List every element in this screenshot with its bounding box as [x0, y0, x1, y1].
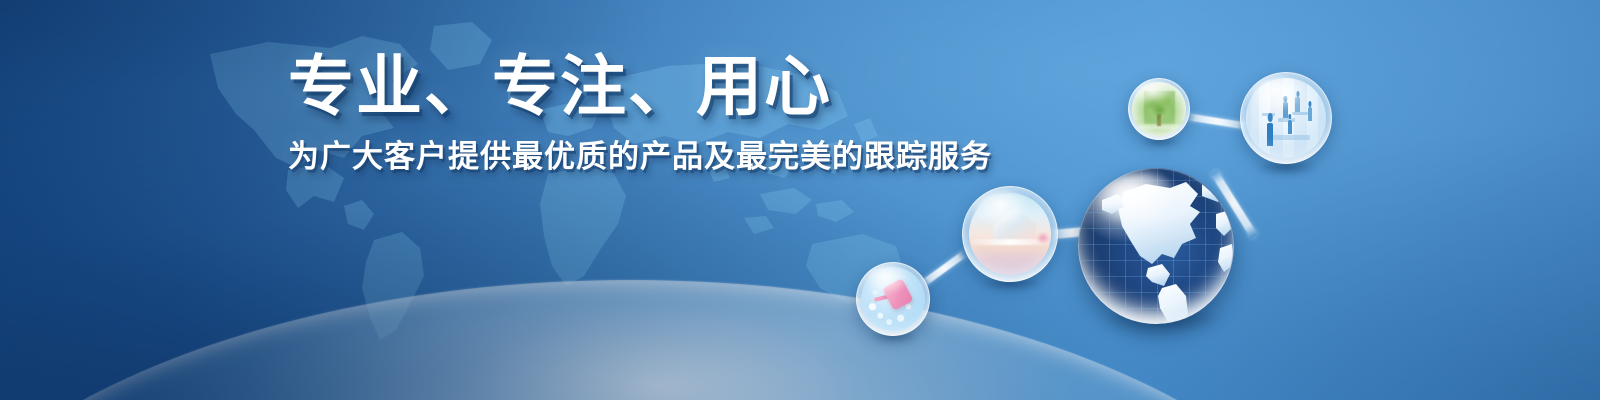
banner-copy: 专业、专注、用心 为广大客户提供最优质的产品及最完美的跟踪服务 — [288, 54, 1028, 174]
nature-sphere-contents — [1132, 82, 1185, 135]
pink-glow — [1036, 232, 1049, 244]
main-globe[interactable] — [1078, 168, 1234, 324]
hero-banner: 专业、专注、用心 为广大客户提供最优质的产品及最完美的跟踪服务 — [0, 0, 1600, 400]
business-people-sphere[interactable] — [1240, 72, 1332, 164]
person-figure-icon — [1267, 123, 1273, 147]
desk-shape — [1273, 135, 1309, 140]
globe-rim-highlight — [1078, 168, 1234, 324]
nature-sphere[interactable] — [1128, 78, 1190, 140]
connector-nature-to-people — [1185, 113, 1247, 130]
people-sphere-contents — [1246, 78, 1325, 157]
person-figure-icon — [1295, 97, 1299, 111]
person-figure-icon — [1288, 120, 1293, 134]
tree-foliage-icon — [1144, 91, 1175, 124]
person-figure-icon — [1283, 102, 1288, 118]
planet-horizon-glow — [180, 280, 1180, 400]
factory-shape-icon — [993, 208, 1036, 243]
page-subtitle: 为广大客户提供最优质的产品及最完美的跟踪服务 — [288, 140, 1028, 174]
product-sphere[interactable] — [856, 262, 930, 336]
desk-shape — [1292, 112, 1308, 116]
connector-pink-to-industry — [920, 250, 968, 287]
industry-sphere[interactable] — [962, 186, 1058, 282]
page-title: 专业、专注、用心 — [288, 54, 1028, 120]
industry-sphere-contents — [969, 193, 1052, 276]
person-figure-icon — [1308, 107, 1312, 121]
desk-shape — [1278, 118, 1295, 122]
product-sphere-contents — [861, 267, 925, 331]
